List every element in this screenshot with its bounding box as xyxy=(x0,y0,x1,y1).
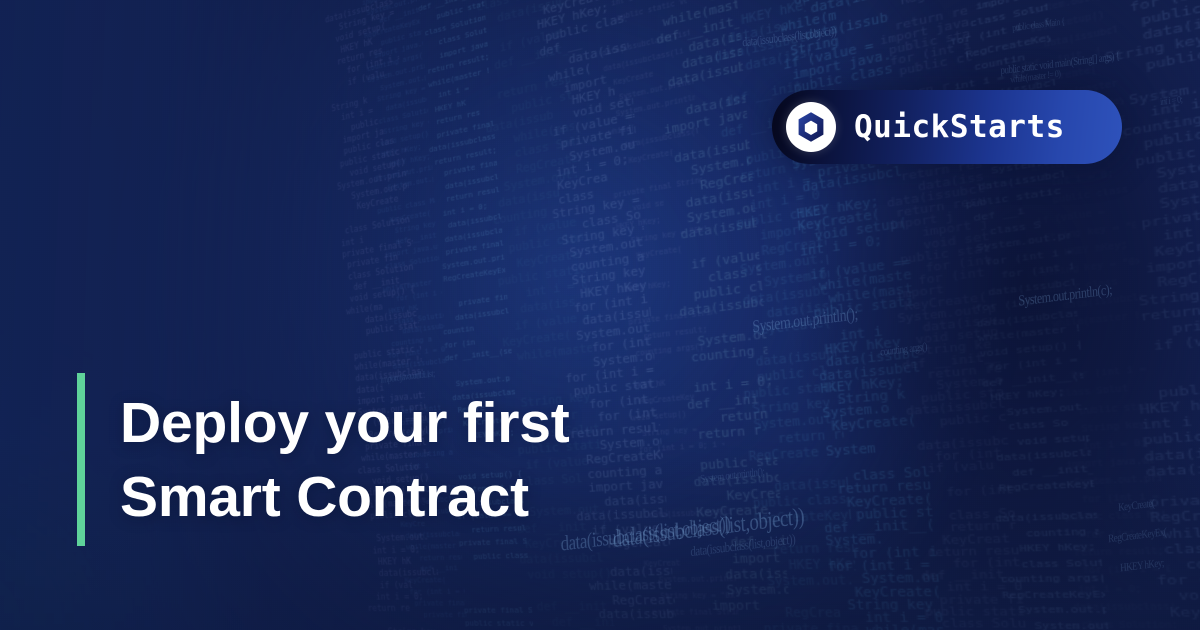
quickstarts-badge[interactable]: QuickStarts xyxy=(772,90,1122,164)
quickstarts-badge-label: QuickStarts xyxy=(854,109,1065,145)
headline-line-2: Smart Contract xyxy=(120,460,570,534)
headline-line-1: Deploy your first xyxy=(120,386,570,460)
quickstarts-banner: public void setup() { data(issubclass(li… xyxy=(0,0,1200,630)
page-title: Deploy your first Smart Contract xyxy=(120,386,570,534)
headline-block: Deploy your first Smart Contract xyxy=(77,373,570,546)
headline-accent-bar xyxy=(77,373,85,546)
chainlink-hexagon-icon xyxy=(786,102,836,152)
